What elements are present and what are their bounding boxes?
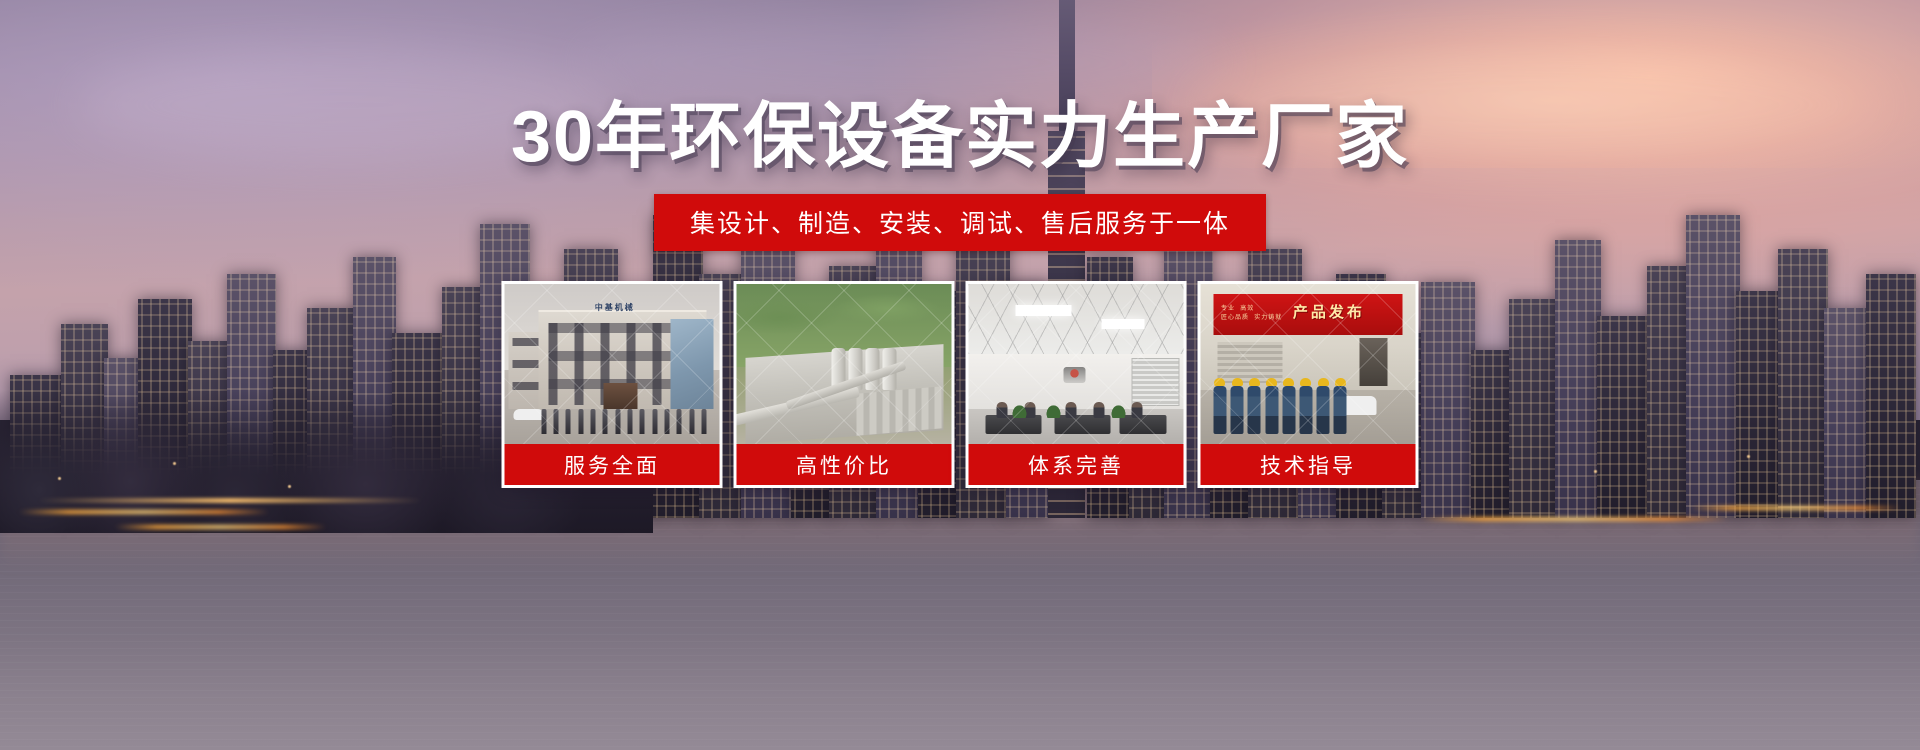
company-office-building-photo: 中基机械 bbox=[505, 284, 720, 444]
city-light-dot bbox=[1594, 470, 1597, 473]
shore-lights bbox=[1421, 517, 1728, 521]
card-caption: 体系完善 bbox=[969, 444, 1184, 485]
city-light-dot bbox=[1747, 455, 1750, 458]
workshop-banner-side-text: 专业 高效匠心品质 实力铸就 bbox=[1221, 305, 1282, 323]
card-caption: 高性价比 bbox=[737, 444, 952, 485]
wall-logo bbox=[1063, 367, 1085, 383]
subtitle-ribbon-wrapper: 集设计、制造、安装、调试、售后服务于一体 bbox=[0, 194, 1920, 251]
white-truck bbox=[1342, 396, 1376, 415]
shore-lights bbox=[19, 510, 269, 514]
feature-card[interactable]: 产品发布 专业 高效匠心品质 实力铸就 技术指导 bbox=[1198, 281, 1419, 488]
workshop-banner-text: 产品发布 bbox=[1293, 301, 1365, 322]
hero-banner: 30年环保设备实力生产厂家 集设计、制造、安装、调试、售后服务于一体 中基机械 bbox=[0, 0, 1920, 750]
shore-lights bbox=[115, 525, 326, 529]
feature-card[interactable]: 高性价比 bbox=[734, 281, 955, 488]
city-light-dot bbox=[173, 462, 176, 465]
feature-card-list: 中基机械 服务全面 bbox=[502, 281, 1419, 488]
card-caption: 技术指导 bbox=[1201, 444, 1416, 485]
card-caption: 服务全面 bbox=[505, 444, 720, 485]
city-light-dot bbox=[58, 477, 61, 480]
bridge-lights bbox=[38, 498, 422, 503]
staff-lineup bbox=[541, 409, 707, 435]
feature-card[interactable]: 体系完善 bbox=[966, 281, 1187, 488]
workshop-workers-photo: 产品发布 专业 高效匠心品质 实力铸就 bbox=[1201, 284, 1416, 444]
city-light-dot bbox=[288, 485, 291, 488]
shore-lights bbox=[1690, 506, 1901, 510]
aerial-factory-plant-photo bbox=[737, 284, 952, 444]
building-sign-text: 中基机械 bbox=[595, 302, 635, 313]
feature-card[interactable]: 中基机械 服务全面 bbox=[502, 281, 723, 488]
office-interior-staff-photo bbox=[969, 284, 1184, 444]
page-title: 30年环保设备实力生产厂家 bbox=[0, 96, 1920, 179]
workshop-red-banner: 产品发布 专业 高效匠心品质 实力铸就 bbox=[1213, 294, 1402, 336]
subtitle-ribbon: 集设计、制造、安装、调试、售后服务于一体 bbox=[654, 194, 1266, 251]
